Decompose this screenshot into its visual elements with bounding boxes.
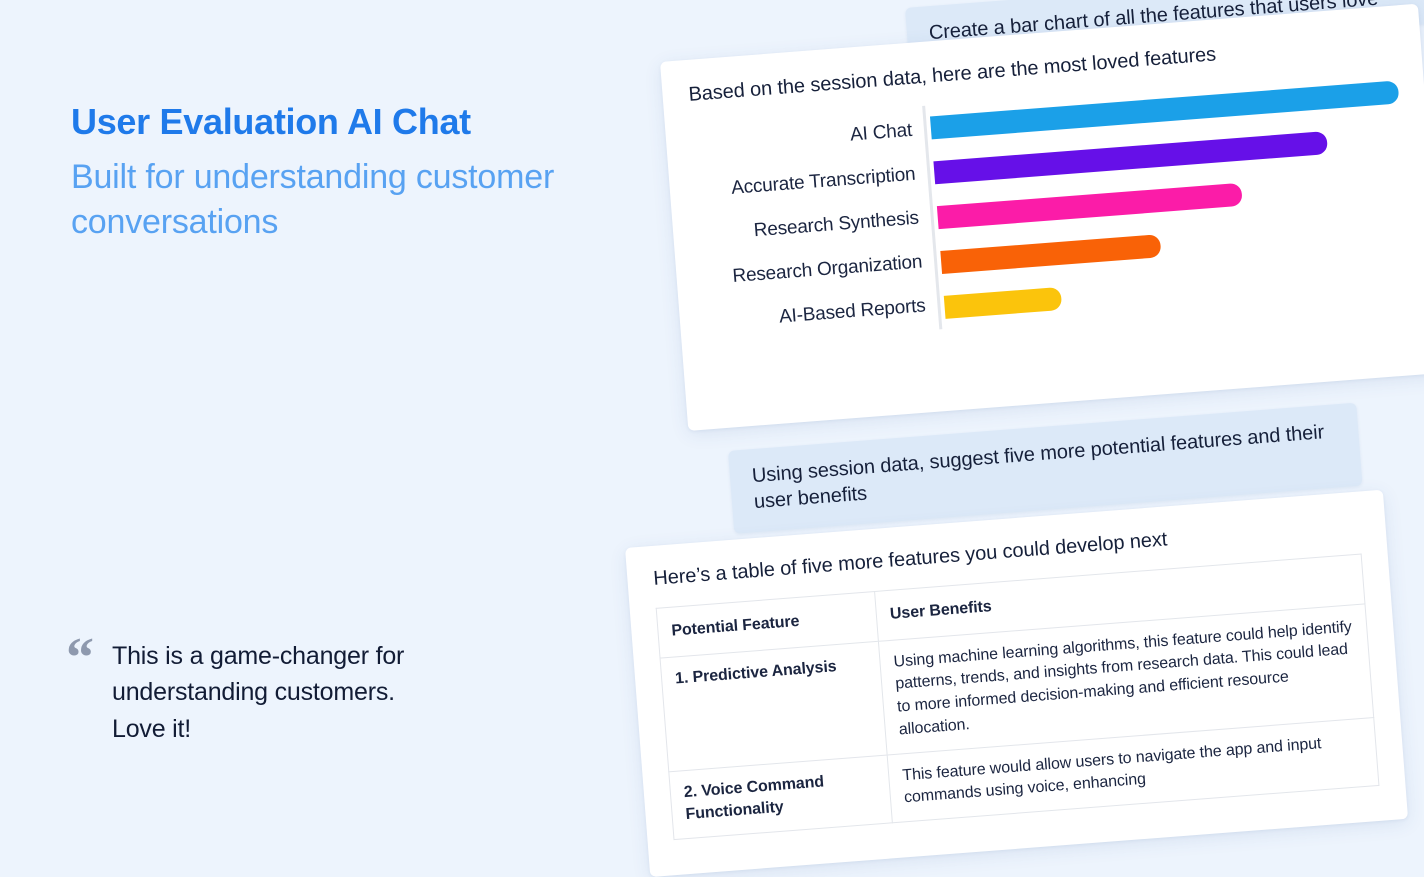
page-subtitle: Built for understanding customer convers… (71, 155, 611, 245)
table-response-card: Here’s a table of five more features you… (625, 490, 1408, 877)
page-title: User Evaluation AI Chat (71, 100, 611, 143)
feature-table: Potential Feature User Benefits 1. Predi… (656, 554, 1380, 841)
chart-category-labels: AI Chat Accurate Transcription Research … (691, 106, 940, 347)
chart-bar (940, 234, 1162, 274)
cell-feature: 1. Predictive Analysis (660, 641, 887, 771)
chart-bar (944, 286, 1063, 318)
testimonial: “ This is a game-changer for understandi… (66, 638, 536, 747)
bar-chart: AI Chat Accurate Transcription Research … (691, 69, 1414, 347)
quote-icon: “ (66, 638, 94, 678)
chart-plot-area (922, 69, 1414, 329)
chart-response-card: Based on the session data, here are the … (660, 4, 1424, 431)
product-mockups: Create a bar chart of all the features t… (600, 0, 1424, 852)
hero-section: User Evaluation AI Chat Built for unders… (0, 0, 620, 852)
testimonial-text: This is a game-changer for understanding… (112, 638, 442, 747)
headline-block: User Evaluation AI Chat Built for unders… (71, 100, 611, 245)
